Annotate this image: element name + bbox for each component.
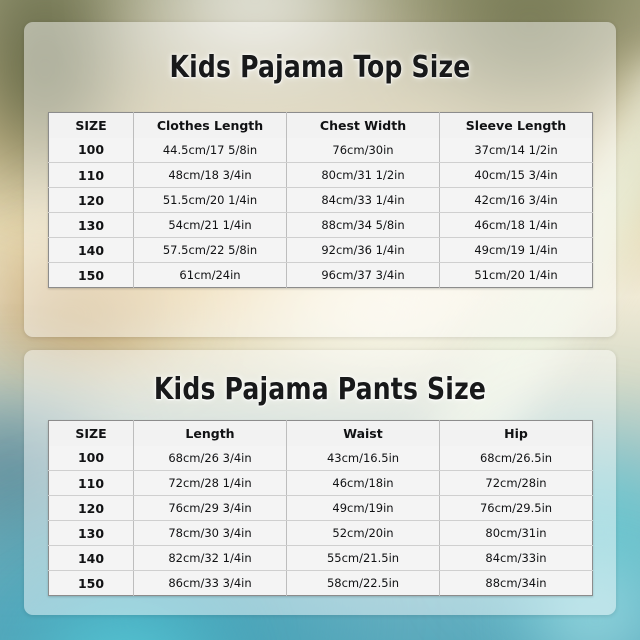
cell-value: 58cm/22.5in xyxy=(287,571,440,596)
cell-value: 43cm/16.5in xyxy=(287,446,440,471)
cell-value: 92cm/36 1/4in xyxy=(287,238,440,263)
table-row: 120 76cm/29 3/4in 49cm/19in 76cm/29.5in xyxy=(49,496,593,521)
table-row: 110 72cm/28 1/4in 46cm/18in 72cm/28in xyxy=(49,471,593,496)
cell-size: 110 xyxy=(49,163,134,188)
table-row: 140 57.5cm/22 5/8in 92cm/36 1/4in 49cm/1… xyxy=(49,238,593,263)
column-header-metric: Waist xyxy=(287,421,440,446)
cell-value: 51.5cm/20 1/4in xyxy=(134,188,287,213)
table-row: 150 86cm/33 3/4in 58cm/22.5in 88cm/34in xyxy=(49,571,593,596)
cell-value: 76cm/29.5in xyxy=(440,496,593,521)
cell-value: 78cm/30 3/4in xyxy=(134,521,287,546)
cell-size: 130 xyxy=(49,213,134,238)
cell-value: 86cm/33 3/4in xyxy=(134,571,287,596)
table-row: 130 54cm/21 1/4in 88cm/34 5/8in 46cm/18 … xyxy=(49,213,593,238)
cell-value: 96cm/37 3/4in xyxy=(287,263,440,288)
cell-value: 61cm/24in xyxy=(134,263,287,288)
cell-value: 57.5cm/22 5/8in xyxy=(134,238,287,263)
cell-value: 84cm/33in xyxy=(440,546,593,571)
cell-value: 80cm/31in xyxy=(440,521,593,546)
cell-size: 100 xyxy=(49,446,134,471)
cell-size: 150 xyxy=(49,571,134,596)
cell-value: 76cm/30in xyxy=(287,138,440,163)
cell-value: 55cm/21.5in xyxy=(287,546,440,571)
cell-value: 46cm/18in xyxy=(287,471,440,496)
table-row: 120 51.5cm/20 1/4in 84cm/33 1/4in 42cm/1… xyxy=(49,188,593,213)
cell-value: 54cm/21 1/4in xyxy=(134,213,287,238)
cell-value: 49cm/19in xyxy=(287,496,440,521)
table-row: 100 68cm/26 3/4in 43cm/16.5in 68cm/26.5i… xyxy=(49,446,593,471)
cell-value: 82cm/32 1/4in xyxy=(134,546,287,571)
cell-value: 88cm/34 5/8in xyxy=(287,213,440,238)
cell-size: 120 xyxy=(49,188,134,213)
pajama-top-size-table: SIZE Clothes Length Chest Width Sleeve L… xyxy=(48,112,593,288)
column-header-metric: Sleeve Length xyxy=(440,113,593,138)
cell-value: 37cm/14 1/2in xyxy=(440,138,593,163)
table-row: 150 61cm/24in 96cm/37 3/4in 51cm/20 1/4i… xyxy=(49,263,593,288)
pajama-top-title: Kids Pajama Top Size xyxy=(22,50,617,85)
cell-value: 88cm/34in xyxy=(440,571,593,596)
cell-value: 72cm/28in xyxy=(440,471,593,496)
cell-size: 100 xyxy=(49,138,134,163)
pajama-pants-title: Kids Pajama Pants Size xyxy=(22,372,617,407)
cell-value: 48cm/18 3/4in xyxy=(134,163,287,188)
table-row: 110 48cm/18 3/4in 80cm/31 1/2in 40cm/15 … xyxy=(49,163,593,188)
cell-value: 84cm/33 1/4in xyxy=(287,188,440,213)
cell-size: 150 xyxy=(49,263,134,288)
cell-size: 140 xyxy=(49,238,134,263)
cell-value: 46cm/18 1/4in xyxy=(440,213,593,238)
table-header-row: SIZE Clothes Length Chest Width Sleeve L… xyxy=(49,113,593,138)
cell-size: 110 xyxy=(49,471,134,496)
cell-value: 52cm/20in xyxy=(287,521,440,546)
cell-value: 68cm/26 3/4in xyxy=(134,446,287,471)
cell-size: 120 xyxy=(49,496,134,521)
pajama-pants-size-table: SIZE Length Waist Hip 100 68cm/26 3/4in … xyxy=(48,420,593,596)
column-header-size: SIZE xyxy=(49,421,134,446)
cell-value: 40cm/15 3/4in xyxy=(440,163,593,188)
cell-value: 68cm/26.5in xyxy=(440,446,593,471)
column-header-metric: Clothes Length xyxy=(134,113,287,138)
table-row: 100 44.5cm/17 5/8in 76cm/30in 37cm/14 1/… xyxy=(49,138,593,163)
cell-value: 49cm/19 1/4in xyxy=(440,238,593,263)
column-header-size: SIZE xyxy=(49,113,134,138)
cell-value: 76cm/29 3/4in xyxy=(134,496,287,521)
column-header-metric: Hip xyxy=(440,421,593,446)
table-header-row: SIZE Length Waist Hip xyxy=(49,421,593,446)
column-header-metric: Chest Width xyxy=(287,113,440,138)
cell-value: 42cm/16 3/4in xyxy=(440,188,593,213)
cell-value: 44.5cm/17 5/8in xyxy=(134,138,287,163)
cell-value: 51cm/20 1/4in xyxy=(440,263,593,288)
size-chart-image: Kids Pajama Top Size SIZE Clothes Length… xyxy=(0,0,640,640)
cell-value: 72cm/28 1/4in xyxy=(134,471,287,496)
table-row: 130 78cm/30 3/4in 52cm/20in 80cm/31in xyxy=(49,521,593,546)
column-header-metric: Length xyxy=(134,421,287,446)
table-row: 140 82cm/32 1/4in 55cm/21.5in 84cm/33in xyxy=(49,546,593,571)
cell-value: 80cm/31 1/2in xyxy=(287,163,440,188)
cell-size: 130 xyxy=(49,521,134,546)
cell-size: 140 xyxy=(49,546,134,571)
